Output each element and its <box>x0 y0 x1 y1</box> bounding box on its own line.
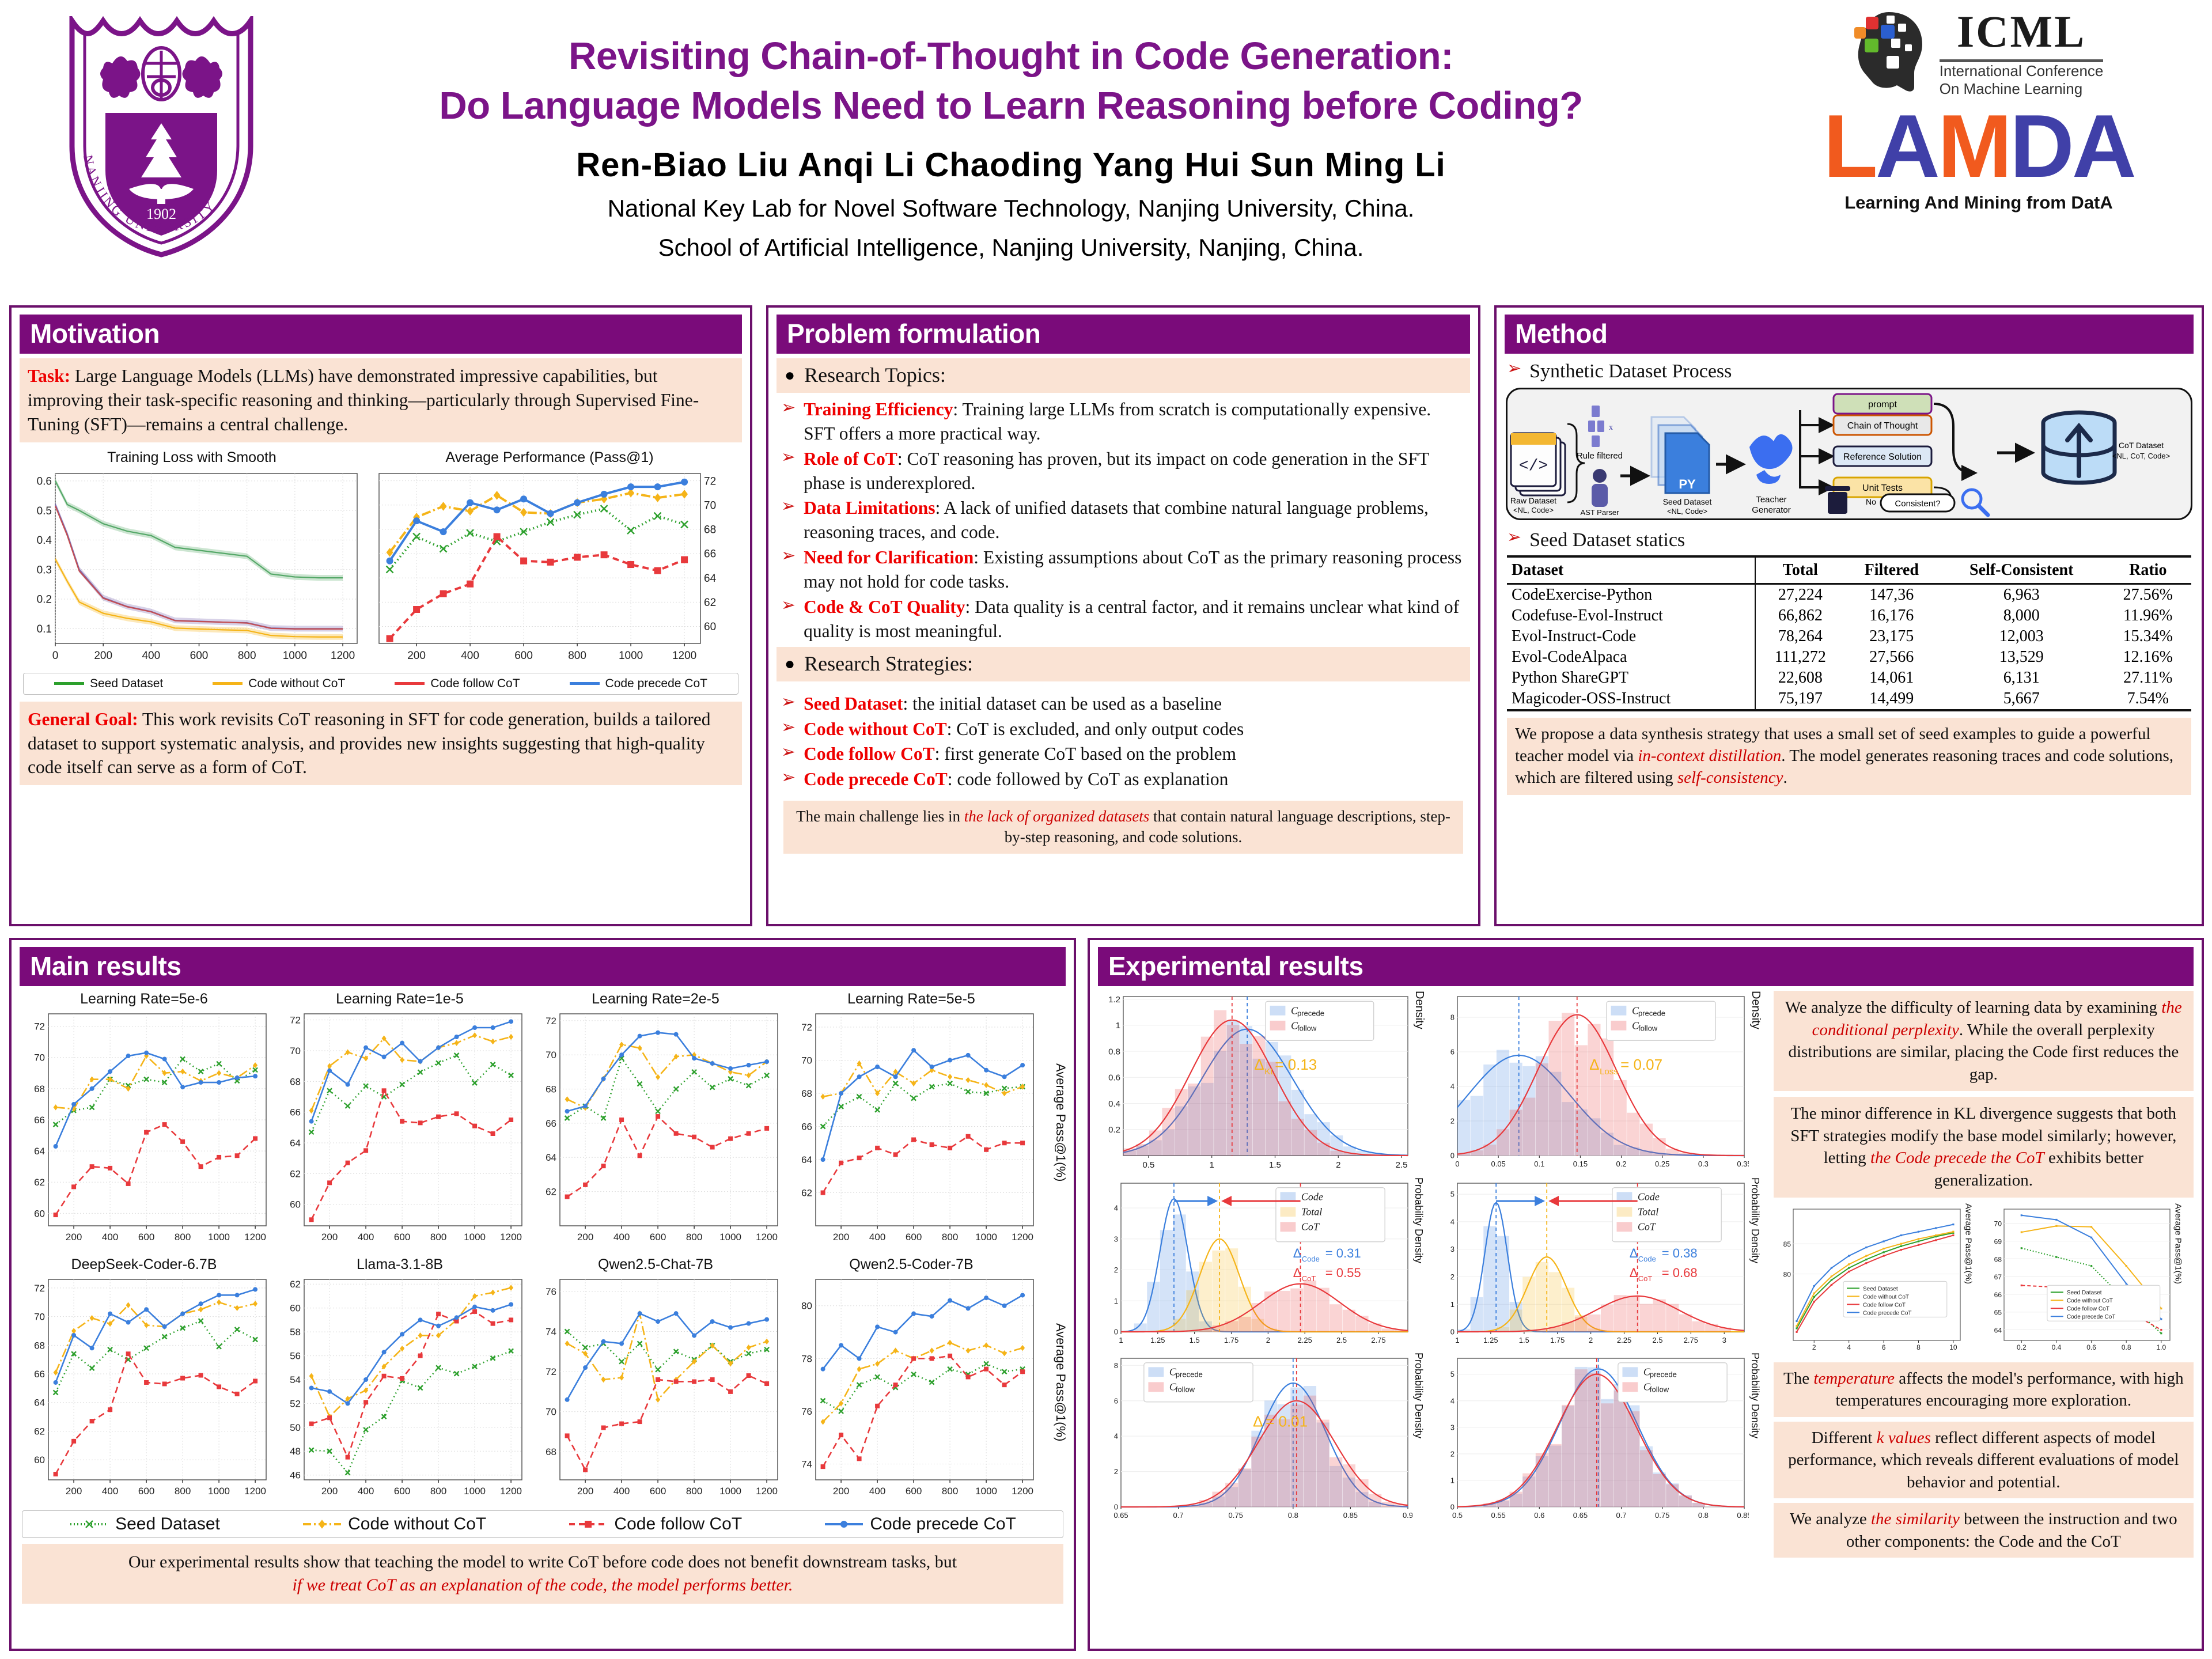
legend-item: Code precede CoT <box>824 1514 1016 1534</box>
svg-text:0.2: 0.2 <box>37 593 52 605</box>
chart-avg-performance-title: Average Performance (Pass@1) <box>371 449 728 466</box>
svg-text:70: 70 <box>546 1050 556 1060</box>
svg-text:85: 85 <box>1783 1240 1791 1248</box>
table-cell: 147,36 <box>1845 584 1938 606</box>
svg-text:Code follow CoT: Code follow CoT <box>1863 1302 1906 1308</box>
table-row: Evol-CodeAlpaca111,27227,56613,52912.16% <box>1507 647 2191 668</box>
method-callout-part3: . <box>1783 768 1787 787</box>
motivation-task-callout: Task: Large Language Models (LLMs) have … <box>20 358 742 442</box>
svg-text:1000: 1000 <box>719 1486 741 1497</box>
panel-experimental-results: Experimental results 0.20.40.60.811.20.5… <box>1088 938 2204 1651</box>
legend-swatch <box>213 682 243 685</box>
svg-text:1: 1 <box>1455 1336 1459 1344</box>
chevron-right-icon: ➢ <box>1507 358 1521 379</box>
table-cell: 27,566 <box>1845 647 1938 668</box>
svg-text:1200: 1200 <box>756 1486 778 1497</box>
svg-text:0.3: 0.3 <box>37 564 52 576</box>
svg-text:66: 66 <box>546 1118 556 1129</box>
method-callout-emphasis1: in-context distillation <box>1638 747 1781 765</box>
svg-text:400: 400 <box>102 1486 118 1497</box>
svg-text:54: 54 <box>290 1374 301 1385</box>
svg-text:0.5: 0.5 <box>1142 1160 1154 1170</box>
svg-text:1200: 1200 <box>500 1486 522 1497</box>
table-cell: 14,499 <box>1845 688 1938 710</box>
table-cell: 13,529 <box>1938 647 2105 668</box>
kl-density-ylabel: Density <box>1412 991 1426 1175</box>
svg-text:4: 4 <box>1847 1343 1851 1351</box>
svg-text:2: 2 <box>1336 1160 1340 1170</box>
method-subheading-2: ➢ Seed Dataset statics <box>1507 527 2191 553</box>
svg-text:1000: 1000 <box>975 1486 997 1497</box>
ppl-b-ylabel: Probability Density <box>1749 1177 1761 1350</box>
legend-label: Code follow CoT <box>614 1514 742 1534</box>
table-bottom-rule <box>1507 710 2191 712</box>
svg-text:52: 52 <box>290 1398 301 1409</box>
svg-text:CoT: CoT <box>1638 1221 1657 1233</box>
list-item-text: : CoT reasoning has proven, but its impa… <box>804 449 1429 493</box>
svg-text:400: 400 <box>869 1486 885 1497</box>
list-item: ➢Code without CoT: CoT is excluded, and … <box>781 717 1465 741</box>
rule-filtered-label: Rule filtered <box>1577 451 1623 461</box>
poster-header: 1902 NANJING UNIVERSITY Revisiting Chain… <box>0 0 2212 297</box>
svg-text:1000: 1000 <box>619 650 643 662</box>
chart-lr-5e6-title: Learning Rate=5e-6 <box>17 991 271 1007</box>
svg-text:AST Parser: AST Parser <box>1581 508 1620 517</box>
qwen-coder-plot: 7476788020040060080010001200 <box>785 1275 1038 1505</box>
svg-text:5: 5 <box>1450 1190 1455 1199</box>
ppl-b-plot: 01234511.251.51.7522.252.52.753CodeTotal… <box>1434 1177 1749 1350</box>
chevron-right-icon: ➢ <box>781 447 796 468</box>
svg-text:62: 62 <box>546 1187 556 1198</box>
svg-text:60: 60 <box>290 1199 301 1210</box>
svg-text:64: 64 <box>34 1146 45 1157</box>
svg-text:6: 6 <box>1450 1048 1455 1056</box>
svg-text:70: 70 <box>801 1055 812 1066</box>
svg-text:2.25: 2.25 <box>1617 1336 1631 1344</box>
list-item-term: Code follow CoT <box>804 744 935 764</box>
icml-brain-icon <box>1854 9 1929 95</box>
chevron-right-icon: ➢ <box>781 595 796 616</box>
svg-text:Code precede CoT: Code precede CoT <box>1863 1310 1912 1316</box>
table-cell: Python ShareGPT <box>1507 668 1755 688</box>
sim-b-plot: 0123450.50.550.60.650.70.750.80.85Cprece… <box>1434 1353 1749 1525</box>
lamda-letter-d: D <box>2010 96 2072 196</box>
svg-text:1.2: 1.2 <box>1108 995 1120 1005</box>
experimental-results-heading: Experimental results <box>1098 947 2194 986</box>
list-item: ➢Need for Clarification: Existing assump… <box>781 546 1465 594</box>
svg-text:3: 3 <box>1450 1423 1455 1431</box>
list-item: ➢Code precede CoT: code followed by CoT … <box>781 767 1465 791</box>
affiliation-line-1: National Key Lab for Novel Software Tech… <box>282 194 1740 224</box>
svg-text:0.6: 0.6 <box>1108 1073 1120 1083</box>
research-topics-list: ➢Training Efficiency: Training large LLM… <box>781 397 1465 643</box>
legend-label: Seed Dataset <box>90 677 163 691</box>
column-header: Filtered <box>1845 556 1938 584</box>
svg-text:0: 0 <box>1114 1503 1118 1512</box>
table-cell: 78,264 <box>1755 626 1845 647</box>
panel-method: Method ➢ Synthetic Dataset Process </> R… <box>1494 305 2204 926</box>
temperature-plot: 8085246810Seed DatasetCode without CoTCo… <box>1774 1203 1964 1357</box>
svg-text:0: 0 <box>1450 1503 1455 1512</box>
list-item-term: Seed Dataset <box>804 694 903 714</box>
synthetic-dataset-diagram: </> Raw Dataset <NL, Code> x Rule filter… <box>1506 388 2192 520</box>
chart-kvalues: 646566676869700.20.40.60.81.0Seed Datase… <box>1983 1203 2191 1357</box>
svg-text:600: 600 <box>650 1232 666 1243</box>
svg-text:60: 60 <box>34 1455 45 1465</box>
svg-text:1000: 1000 <box>464 1232 486 1243</box>
svg-text:0.6: 0.6 <box>1534 1511 1544 1520</box>
chart-sim-b: 0123450.50.550.60.650.70.750.80.85Cprece… <box>1434 1353 1768 1525</box>
svg-text:0.8: 0.8 <box>1288 1511 1298 1520</box>
no-label: No <box>1866 497 1876 506</box>
svg-text:74: 74 <box>546 1326 556 1337</box>
svg-text:600: 600 <box>394 1486 410 1497</box>
svg-text:69: 69 <box>1994 1237 2002 1245</box>
svg-text:46: 46 <box>290 1470 301 1481</box>
svg-text:2: 2 <box>1266 1336 1270 1344</box>
exp-callout-3-em: temperature <box>1813 1369 1895 1388</box>
svg-text:0.7: 0.7 <box>1616 1511 1627 1520</box>
deepseek-plot: 6062646668707220040060080010001200 <box>17 1275 271 1505</box>
author-list: Ren-Biao Liu Anqi Li Chaoding Yang Hui S… <box>282 146 1740 184</box>
svg-text:78: 78 <box>801 1353 812 1364</box>
research-strategies-list: ➢Seed Dataset: the initial dataset can b… <box>781 692 1465 792</box>
svg-text:600: 600 <box>138 1232 154 1243</box>
experimental-callout-4: Different k values reflect different asp… <box>1774 1422 2194 1499</box>
chart-avg-performance: Average Performance (Pass@1) 60626466687… <box>371 449 728 669</box>
list-item-term: Code & CoT Quality <box>804 597 965 617</box>
lamda-letter-a2: A <box>2072 96 2134 196</box>
svg-text:68: 68 <box>34 1340 45 1351</box>
svg-text:CoT: CoT <box>1638 1274 1653 1283</box>
svg-text:68: 68 <box>704 524 716 536</box>
svg-text:62: 62 <box>801 1187 812 1198</box>
svg-text:400: 400 <box>142 650 160 662</box>
svg-text:1: 1 <box>1450 1300 1455 1309</box>
svg-text:1200: 1200 <box>244 1232 266 1243</box>
poster-title-line2: Do Language Models Need to Learn Reasoni… <box>282 81 1740 131</box>
legend-label: Seed Dataset <box>115 1514 220 1534</box>
main-results-heading: Main results <box>20 947 1066 986</box>
svg-text:1: 1 <box>1116 1021 1120 1031</box>
method-subheading-2-label: Seed Dataset statics <box>1529 527 1685 553</box>
svg-text:3: 3 <box>1722 1336 1726 1344</box>
table-header-row: DatasetTotalFilteredSelf-ConsistentRatio <box>1507 556 2191 584</box>
svg-text:200: 200 <box>577 1232 593 1243</box>
raw-dataset-label: Raw Dataset <box>1510 496 1556 505</box>
svg-text:Loss: Loss <box>1600 1067 1618 1077</box>
svg-text:0: 0 <box>52 650 59 662</box>
svg-text:5: 5 <box>1450 1370 1455 1378</box>
svg-text:200: 200 <box>321 1486 338 1497</box>
svg-text:200: 200 <box>321 1232 338 1243</box>
svg-text:200: 200 <box>66 1486 82 1497</box>
svg-text:0.2: 0.2 <box>2017 1343 2027 1351</box>
svg-text:60: 60 <box>34 1208 45 1219</box>
chevron-right-icon: ➢ <box>781 742 796 763</box>
chart-lr-2e5-title: Learning Rate=2e-5 <box>529 991 782 1007</box>
kl-density-plot: 0.20.40.60.811.20.511.522.5CprecedeCfoll… <box>1098 991 1412 1175</box>
svg-text:1000: 1000 <box>208 1232 230 1243</box>
svg-text:0.2: 0.2 <box>1616 1160 1627 1168</box>
research-topics-label: Research Topics: <box>804 362 946 389</box>
svg-text:400: 400 <box>613 1486 630 1497</box>
sim-b-ylabel: Probability Density <box>1749 1353 1761 1525</box>
svg-text:400: 400 <box>358 1486 374 1497</box>
svg-text:4: 4 <box>1450 1217 1455 1226</box>
svg-text:0.2: 0.2 <box>1108 1125 1120 1135</box>
chart-temperature: 8085246810Seed DatasetCode without CoTCo… <box>1774 1203 1981 1357</box>
svg-text:2.75: 2.75 <box>1684 1336 1698 1344</box>
svg-text:0.4: 0.4 <box>1108 1099 1120 1109</box>
chart-qwen-coder-title: Qwen2.5-Coder-7B <box>785 1256 1038 1273</box>
svg-text:0.85: 0.85 <box>1343 1511 1358 1520</box>
svg-text:1000: 1000 <box>975 1232 997 1243</box>
svg-text:50: 50 <box>290 1422 301 1433</box>
svg-text:600: 600 <box>906 1232 922 1243</box>
chevron-right-icon: ➢ <box>781 692 796 713</box>
method-callout: We propose a data synthesis strategy tha… <box>1507 718 2191 794</box>
svg-text:600: 600 <box>514 650 533 662</box>
table-cell: 75,197 <box>1755 688 1845 710</box>
exp-callout-5-em: the similarity <box>1871 1510 1960 1528</box>
svg-text:1.75: 1.75 <box>1550 1336 1565 1344</box>
experimental-callout-1: We analyze the difficulty of learning da… <box>1774 991 2194 1091</box>
svg-text:<NL, Code>: <NL, Code> <box>1667 507 1707 516</box>
svg-text:68: 68 <box>1994 1255 2002 1263</box>
list-item-term: Training Efficiency <box>804 399 953 419</box>
main-results-callout-line2: if we treat CoT as an explanation of the… <box>31 1574 1054 1597</box>
svg-text:1200: 1200 <box>244 1486 266 1497</box>
table-cell: 27.11% <box>2105 668 2191 688</box>
svg-text:64: 64 <box>801 1154 812 1165</box>
svg-text:Code follow CoT: Code follow CoT <box>2067 1306 2109 1312</box>
svg-text:800: 800 <box>568 650 586 662</box>
experimental-callout-2: The minor difference in KL divergence su… <box>1774 1097 2194 1197</box>
svg-text:0.9: 0.9 <box>1403 1511 1412 1520</box>
svg-text:follow: follow <box>1176 1385 1195 1394</box>
svg-text:62: 62 <box>34 1177 45 1188</box>
list-item: ➢Training Efficiency: Training large LLM… <box>781 397 1465 446</box>
chart-llama: Llama-3.1-8B 464850525456586062200400600… <box>273 1256 527 1508</box>
table-cell: 6,963 <box>1938 584 2105 606</box>
chart-qwen-coder: Qwen2.5-Coder-7B 74767880200400600800100… <box>785 1256 1038 1508</box>
icml-logo: ICML International Conference On Machine… <box>1760 6 2198 98</box>
svg-text:0.15: 0.15 <box>1573 1160 1588 1168</box>
svg-text:1000: 1000 <box>208 1486 230 1497</box>
chart-qwen-chat: Qwen2.5-Chat-7B 687072747620040060080010… <box>529 1256 782 1508</box>
method-subheading-1: ➢ Synthetic Dataset Process <box>1507 358 2191 384</box>
svg-text:64: 64 <box>34 1397 45 1408</box>
cot-dataset-label: CoT Dataset <box>2119 441 2164 450</box>
chevron-right-icon: ➢ <box>781 767 796 788</box>
table-cell: 27,224 <box>1755 584 1845 606</box>
table-cell: 16,176 <box>1845 605 1938 626</box>
svg-text:800: 800 <box>175 1486 191 1497</box>
list-item-term: Code precede CoT <box>804 769 948 789</box>
main-results-callout-line1: Our experimental results show that teach… <box>31 1551 1054 1574</box>
svg-text:60: 60 <box>704 621 716 633</box>
chart-training-loss: Training Loss with Smooth 0.10.20.30.40.… <box>22 449 362 669</box>
svg-text:1.5: 1.5 <box>1519 1336 1529 1344</box>
chart-deepseek-title: DeepSeek-Coder-6.7B <box>17 1256 271 1273</box>
icml-subtitle-line1: International Conference <box>1940 62 2104 80</box>
nanjing-university-logo: 1902 NANJING UNIVERSITY <box>55 16 268 258</box>
table-cell: 6,131 <box>1938 668 2105 688</box>
legend-line-icon <box>824 1518 864 1531</box>
task-text: Large Language Models (LLMs) have demons… <box>28 366 699 434</box>
svg-text:1: 1 <box>1210 1160 1214 1170</box>
legend-line-icon <box>69 1518 109 1531</box>
svg-text:200: 200 <box>833 1232 849 1243</box>
research-strategies-label: Research Strategies: <box>804 650 973 678</box>
chart-loss-density: 0246800.050.10.150.20.250.30.35CprecedeC… <box>1434 991 1768 1175</box>
svg-text:1.0: 1.0 <box>2156 1343 2166 1351</box>
svg-text:1: 1 <box>1450 1476 1455 1484</box>
svg-text:2.5: 2.5 <box>1336 1336 1347 1344</box>
svg-text:400: 400 <box>358 1232 374 1243</box>
table-cell: 14,061 <box>1845 668 1938 688</box>
chart-llama-title: Llama-3.1-8B <box>273 1256 527 1273</box>
legend-item: Seed Dataset <box>69 1514 220 1534</box>
svg-text:6: 6 <box>1114 1396 1118 1405</box>
list-item: ➢Code follow CoT: first generate CoT bas… <box>781 742 1465 766</box>
research-strategies-header: ● Research Strategies: <box>777 647 1470 681</box>
table-cell: 111,272 <box>1755 647 1845 668</box>
chart-kl-density: 0.20.40.60.811.20.511.522.5CprecedeCfoll… <box>1098 991 1432 1175</box>
svg-text:72: 72 <box>801 1022 812 1033</box>
svg-text:67: 67 <box>1994 1273 2002 1281</box>
svg-text:</>: </> <box>1519 457 1548 475</box>
svg-text:0.35: 0.35 <box>1737 1160 1749 1168</box>
legend-label: Code precede CoT <box>870 1514 1016 1534</box>
svg-text:800: 800 <box>175 1232 191 1243</box>
list-item-text: : first generate CoT based on the proble… <box>935 744 1236 764</box>
legend-swatch <box>570 682 600 685</box>
svg-text:80: 80 <box>1783 1270 1791 1278</box>
svg-text:70: 70 <box>290 1046 301 1056</box>
svg-text:Total: Total <box>1301 1206 1322 1218</box>
svg-text:10: 10 <box>1949 1343 1957 1351</box>
chevron-right-icon: ➢ <box>781 496 796 517</box>
column-header: Self-Consistent <box>1938 556 2105 584</box>
method-heading: Method <box>1505 315 2194 354</box>
svg-text:4: 4 <box>1114 1204 1118 1213</box>
svg-text:0: 0 <box>1114 1328 1118 1336</box>
svg-text:64: 64 <box>1994 1326 2002 1334</box>
table-row: Evol-Instruct-Code78,26423,17512,00315.3… <box>1507 626 2191 647</box>
svg-text:3: 3 <box>1114 1234 1118 1243</box>
svg-text:Δ: Δ <box>1293 1266 1302 1280</box>
svg-text:72: 72 <box>34 1021 45 1032</box>
loss-density-plot: 0246800.050.10.150.20.250.30.35CprecedeC… <box>1434 991 1749 1175</box>
svg-text:CoT: CoT <box>1301 1221 1320 1233</box>
list-item-text: : the initial dataset can be used as a b… <box>903 694 1222 714</box>
problem-callout-emphasis: the lack of organized datasets <box>964 808 1149 825</box>
svg-text:Code: Code <box>1638 1255 1656 1263</box>
svg-text:6: 6 <box>1881 1343 1885 1351</box>
main-results-ylabel-bottom: Average Pass@1(%) <box>1053 1323 1068 1441</box>
svg-text:0: 0 <box>1455 1160 1459 1168</box>
svg-text:follow: follow <box>1638 1024 1658 1032</box>
list-item-term: Role of CoT <box>804 449 897 469</box>
seed-dataset-table: DatasetTotalFilteredSelf-ConsistentRatio… <box>1507 555 2191 712</box>
svg-text:70: 70 <box>546 1407 556 1418</box>
lr-2e5-plot: 62646668707220040060080010001200 <box>529 1009 782 1251</box>
svg-text:600: 600 <box>394 1232 410 1243</box>
consistent-label: Consistent? <box>1895 499 1940 509</box>
panel-main-results: Main results Learning Rate=5e-6 60626466… <box>9 938 1076 1651</box>
svg-text:1.5: 1.5 <box>1190 1336 1200 1344</box>
svg-text:0.55: 0.55 <box>1491 1511 1505 1520</box>
ppl-a-plot: 0123411.251.51.7522.252.52.75CodeTotalCo… <box>1098 1177 1412 1350</box>
chart-deepseek: DeepSeek-Coder-6.7B 60626466687072200400… <box>17 1256 271 1508</box>
svg-text:2.25: 2.25 <box>1298 1336 1312 1344</box>
chevron-right-icon-2: ➢ <box>1507 527 1521 548</box>
svg-text:Δ: Δ <box>1630 1246 1638 1260</box>
lamda-logo: LAMDA <box>1760 104 2198 188</box>
svg-text:Code without CoT: Code without CoT <box>1863 1294 1909 1300</box>
method-callout-emphasis2: self-consistency <box>1677 768 1783 787</box>
svg-text:2: 2 <box>1812 1343 1816 1351</box>
legend-label: Code follow CoT <box>430 677 520 691</box>
sim-a-plot: 024680.650.70.750.80.850.9CprecedeCfollo… <box>1098 1353 1412 1525</box>
affiliation-line-2: School of Artificial Intelligence, Nanji… <box>282 233 1740 263</box>
svg-text:0.75: 0.75 <box>1229 1511 1243 1520</box>
svg-text:74: 74 <box>801 1459 812 1469</box>
legend-item: Code follow CoT <box>568 1514 742 1534</box>
svg-text:Seed Dataset: Seed Dataset <box>1863 1286 1898 1292</box>
exp-callout-4-em: k values <box>1877 1429 1931 1447</box>
svg-text:Δ: Δ <box>1293 1246 1302 1260</box>
svg-text:70: 70 <box>1994 1219 2002 1228</box>
table-cell: 8,000 <box>1938 605 2105 626</box>
svg-text:1: 1 <box>1119 1336 1123 1344</box>
bullet-dot-icon-2: ● <box>785 654 795 674</box>
svg-text:precede: precede <box>1638 1009 1665 1017</box>
svg-text:1200: 1200 <box>1012 1232 1033 1243</box>
svg-text:0.8: 0.8 <box>1698 1511 1709 1520</box>
teacher-label: Teacher <box>1756 495 1786 505</box>
panel-problem-formulation: Problem formulation ● Research Topics: ➢… <box>766 305 1480 926</box>
llama-plot: 46485052545658606220040060080010001200 <box>273 1275 527 1505</box>
svg-text:= 0.01: = 0.01 <box>1266 1413 1308 1430</box>
chart-lr-1e5: Learning Rate=1e-5 606264666870722004006… <box>273 991 527 1254</box>
svg-text:72: 72 <box>546 1016 556 1027</box>
svg-text:66: 66 <box>801 1121 812 1132</box>
svg-text:68: 68 <box>801 1088 812 1099</box>
column-header: Dataset <box>1507 556 1755 584</box>
experimental-callout-5: We analyze the similarity between the in… <box>1774 1503 2194 1558</box>
svg-text:2.75: 2.75 <box>1371 1336 1385 1344</box>
conference-logos: ICML International Conference On Machine… <box>1760 6 2198 213</box>
svg-text:400: 400 <box>869 1232 885 1243</box>
main-results-legend: Seed DatasetCode without CoTCode follow … <box>22 1510 1063 1538</box>
table-row: Python ShareGPT22,60814,0616,13127.11% <box>1507 668 2191 688</box>
svg-text:0.6: 0.6 <box>37 475 52 487</box>
exp-callout-2-em: the Code precede the CoT <box>1870 1149 2044 1167</box>
table-row: Codefuse-Evol-Instruct66,86216,1768,0001… <box>1507 605 2191 626</box>
table-cell: 15.34% <box>2105 626 2191 647</box>
ppl-a-ylabel: Probability Density <box>1412 1177 1425 1350</box>
svg-text:62: 62 <box>34 1426 45 1437</box>
svg-text:1200: 1200 <box>672 650 696 662</box>
svg-text:Δ: Δ <box>1253 1413 1263 1430</box>
main-results-callout: Our experimental results show that teach… <box>22 1544 1063 1604</box>
loss-density-ylabel: Density <box>1749 991 1762 1175</box>
table-cell: Codefuse-Evol-Instruct <box>1507 605 1755 626</box>
svg-text:1.75: 1.75 <box>1224 1336 1238 1344</box>
